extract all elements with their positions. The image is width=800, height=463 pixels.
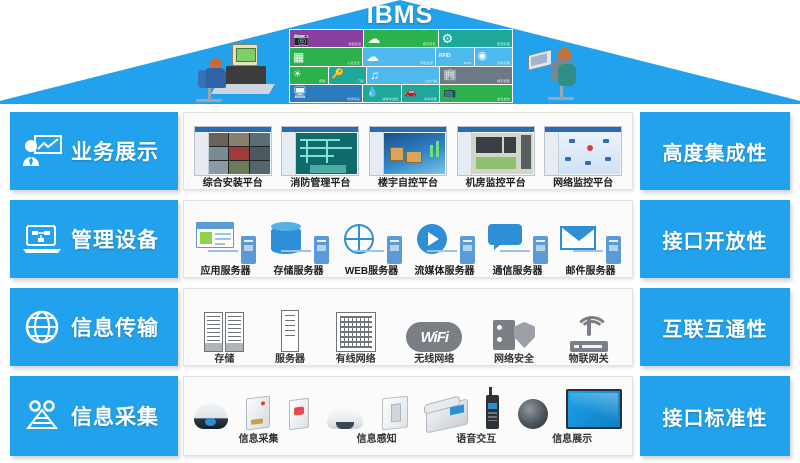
person-at-desktop-icon	[196, 44, 276, 102]
information-collection-panel: 信息采集 信息感知 语音交互 信息展示	[183, 376, 633, 456]
page-title: IBMS	[0, 2, 800, 28]
server-tower-icon	[281, 310, 299, 352]
layer-management-devices: 管理设备 应用服务器 存储服务器	[0, 200, 800, 278]
cctv-wall-screenshot	[194, 126, 272, 176]
tile-people-positioning[interactable]: ▦ 人员定位	[290, 48, 362, 65]
badge-icon: ◉	[478, 51, 488, 62]
display-screen-icon[interactable]	[566, 389, 622, 429]
music-note-icon: ♫	[370, 69, 379, 81]
item-caption: 流媒体服务器	[415, 266, 475, 277]
dome-camera-icon[interactable]	[194, 403, 228, 429]
tile-information-release[interactable]: 📺 信息发布	[440, 85, 512, 102]
item-caption: 存储服务器	[274, 266, 324, 277]
feature-label: 高度集成性	[663, 137, 768, 166]
item-caption: 有线网络	[336, 354, 376, 365]
grid-icon: ▦	[293, 51, 304, 63]
management-devices-panel: 应用服务器 存储服务器 WEB服务器	[183, 200, 633, 278]
mosaic-row: ☀ 照明 🔑 门禁 ♫ 公共广播 🏢 楼宇模型	[290, 67, 512, 84]
chat-server-icon	[486, 222, 550, 264]
mail-server-icon	[559, 222, 623, 264]
platform-item[interactable]: 楼宇自控平台	[369, 113, 447, 189]
card-reader-icon[interactable]	[246, 396, 270, 431]
tile-label: 视频监控	[349, 43, 362, 46]
group-caption: 语音交互	[430, 434, 522, 445]
server-item[interactable]: 通信服务器	[486, 201, 550, 277]
tile-label: 给排水监控	[382, 98, 398, 101]
laptop-icon	[528, 49, 552, 71]
play-server-icon	[413, 222, 477, 264]
globe-server-icon	[340, 222, 404, 264]
sidebar-item-management-devices[interactable]: 管理设备	[10, 200, 178, 278]
laptop-network-icon	[22, 222, 62, 256]
ibms-architecture-diagram: IBMS	[0, 0, 800, 463]
tile-smart-server-room[interactable]: 🖥 智能机房	[290, 85, 362, 102]
item-caption: 服务器	[275, 354, 305, 365]
platform-item[interactable]: 机房监控平台	[457, 113, 535, 189]
group-caption: 信息感知	[323, 434, 430, 445]
sidebar-label: 业务展示	[71, 136, 159, 166]
mosaic-row: 🖥 智能机房 💧 给排水监控 🚗 停车管理 📺 信息发布	[290, 85, 512, 102]
desk-phone-icon[interactable]	[426, 399, 468, 434]
sidebar-label: 管理设备	[71, 224, 159, 254]
feature-label: 接口开放性	[663, 225, 768, 254]
cloud-icon: ☁	[367, 32, 380, 45]
speaker-icon[interactable]	[518, 399, 548, 429]
chair-back	[558, 64, 576, 86]
tile-water-supply[interactable]: 💧 给排水监控	[363, 85, 401, 102]
walkie-talkie-icon[interactable]	[486, 395, 499, 429]
item-caption: 无线网络	[414, 354, 454, 365]
platform-item[interactable]: 网络监控平台	[544, 113, 622, 189]
network-topology-screenshot	[544, 126, 622, 176]
item-caption: 综合安装平台	[203, 178, 263, 189]
wall-switch-icon[interactable]	[382, 396, 408, 431]
rfid-icon: RFID	[439, 54, 451, 59]
feature-high-integration[interactable]: 高度集成性	[640, 112, 790, 190]
platform-item[interactable]: 消防管理平台	[281, 113, 359, 189]
person-with-laptop-icon	[528, 44, 600, 102]
chair-legs	[196, 99, 222, 102]
server-shield-icon	[493, 318, 535, 352]
key-icon: 🔑	[332, 70, 344, 80]
tile-label: 楼宇模型	[497, 80, 510, 83]
item-caption: 机房监控平台	[466, 178, 526, 189]
app-window-server-icon	[194, 222, 258, 264]
sidebar-item-information-transmission[interactable]: 信息传输	[10, 288, 178, 366]
tile-label: 门禁	[358, 80, 364, 83]
car-icon: 🚗	[405, 88, 417, 98]
function-tile-mosaic: 📷 视频监控 ☁ 楼宇自控 ⚙ 能源管理 ▦ 人员定位 ☁	[289, 29, 513, 103]
server-item[interactable]: WEB服务器	[340, 201, 404, 277]
tile-environment-monitoring[interactable]: ☁ 环境监测	[363, 48, 435, 65]
network-item[interactable]: 有线网络	[336, 289, 376, 365]
wireless-gateway-icon	[566, 318, 612, 352]
tile-label: 能源管理	[497, 43, 510, 46]
database-server-icon	[267, 222, 331, 264]
sidebar-label: 信息传输	[71, 312, 159, 342]
chair-back	[198, 70, 206, 88]
tile-label: 公共广播	[424, 80, 437, 83]
gear-icon: ⚙	[442, 32, 454, 45]
bas-screenshot	[369, 126, 447, 176]
sensor-tower-icon	[22, 399, 62, 433]
chair-legs	[548, 97, 574, 100]
fire-plan-screenshot	[281, 126, 359, 176]
tile-visitor-management[interactable]: ◉ 访客管理	[475, 48, 513, 65]
tile-label: 智能机房	[347, 98, 360, 101]
wifi-icon: WiFi	[406, 322, 462, 352]
feature-interconnectivity[interactable]: 互联互通性	[640, 288, 790, 366]
tile-building-model[interactable]: 🏢 楼宇模型	[440, 67, 512, 84]
tile-lighting[interactable]: ☀ 照明	[290, 67, 328, 84]
tile-label: 访客管理	[497, 62, 510, 65]
item-caption: 楼宇自控平台	[378, 178, 438, 189]
cctv-camera-icon: 📷	[293, 32, 309, 45]
tile-label: 信息发布	[497, 98, 510, 101]
item-caption: 消防管理平台	[290, 178, 350, 189]
tile-video-surveillance[interactable]: 📷 视频监控	[290, 30, 363, 47]
person-chart-icon	[22, 134, 62, 168]
group-caption: 信息展示	[522, 434, 622, 445]
tile-building-automation[interactable]: ☁ 楼宇自控	[364, 30, 437, 47]
network-item[interactable]: 存储	[204, 289, 244, 365]
laptop-screen	[531, 53, 547, 66]
item-caption: 网络安全	[494, 354, 534, 365]
item-caption: 存储	[214, 354, 234, 365]
layer-information-transmission: 信息传输 存储 服务器 有线网络 WiFi 无线网络	[0, 288, 800, 366]
cloud-fill-icon: ☁	[366, 50, 379, 63]
tile-rfid[interactable]: RFID RFID	[436, 48, 474, 65]
display-icon: 📺	[443, 88, 457, 99]
tile-energy-management[interactable]: ⚙ 能源管理	[439, 30, 512, 47]
storage-rack-icon	[204, 312, 244, 352]
water-drop-icon: 💧	[366, 88, 378, 98]
item-caption: WEB服务器	[345, 266, 398, 277]
mosaic-row: ▦ 人员定位 ☁ 环境监测 RFID RFID ◉ 访客管理	[290, 48, 512, 65]
platform-item[interactable]: 综合安装平台	[194, 113, 272, 189]
tile-public-broadcast[interactable]: ♫ 公共广播	[367, 67, 439, 84]
item-caption: 物联网关	[569, 354, 609, 365]
feature-interface-openness[interactable]: 接口开放性	[640, 200, 790, 278]
network-item[interactable]: 物联网关	[566, 289, 612, 365]
business-display-panel: 综合安装平台 消防管理平台	[183, 112, 633, 190]
tile-label: 人员定位	[347, 62, 360, 65]
information-transmission-panel: 存储 服务器 有线网络 WiFi 无线网络 网络安全	[183, 288, 633, 366]
mosaic-row: 📷 视频监控 ☁ 楼宇自控 ⚙ 能源管理	[290, 30, 512, 47]
layer-information-collection: 信息采集	[0, 376, 800, 456]
globe-icon	[22, 310, 62, 344]
monitor-screen	[236, 48, 256, 62]
smoke-detector-icon[interactable]	[327, 407, 363, 429]
network-item[interactable]: 服务器	[275, 289, 305, 365]
item-caption: 邮件服务器	[566, 266, 616, 277]
tile-label: 照明	[319, 80, 325, 83]
sidebar-item-business-display[interactable]: 业务展示	[10, 112, 178, 190]
feature-label: 接口标准性	[663, 402, 768, 431]
tile-label: 停车管理	[424, 98, 437, 101]
server-item[interactable]: 应用服务器	[194, 201, 258, 277]
item-caption: 应用服务器	[201, 266, 251, 277]
person-body	[204, 68, 226, 88]
tile-label: RFID	[464, 62, 472, 65]
tile-label: 环境监测	[420, 62, 433, 65]
light-icon: ☀	[293, 70, 302, 80]
server-item[interactable]: 流媒体服务器	[413, 201, 477, 277]
server-room-icon: 🖥	[293, 88, 307, 99]
layer-business-display: 业务展示 综合安装平台	[0, 112, 800, 190]
building-icon: 🏢	[443, 70, 457, 81]
network-item[interactable]: 网络安全	[493, 289, 535, 365]
feature-label: 互联互通性	[663, 313, 768, 342]
desktop-monitor-icon	[232, 44, 258, 66]
patch-panel-icon	[336, 312, 376, 352]
idc-monitor-screenshot	[457, 126, 535, 176]
network-item[interactable]: WiFi 无线网络	[406, 289, 462, 365]
server-item[interactable]: 存储服务器	[267, 201, 331, 277]
roof-section: IBMS	[0, 0, 800, 104]
tile-label: 楼宇自控	[423, 43, 436, 46]
emergency-call-point-icon[interactable]	[289, 398, 309, 430]
item-caption: 网络监控平台	[553, 178, 613, 189]
tile-access-control[interactable]: 🔑 门禁	[329, 67, 367, 84]
tile-parking[interactable]: 🚗 停车管理	[402, 85, 440, 102]
sidebar-label: 信息采集	[71, 401, 159, 431]
feature-interface-standardization[interactable]: 接口标准性	[640, 376, 790, 456]
server-item[interactable]: 邮件服务器	[559, 201, 623, 277]
sidebar-item-information-collection[interactable]: 信息采集	[10, 376, 178, 456]
item-caption: 通信服务器	[493, 266, 543, 277]
group-caption: 信息采集	[194, 434, 323, 445]
